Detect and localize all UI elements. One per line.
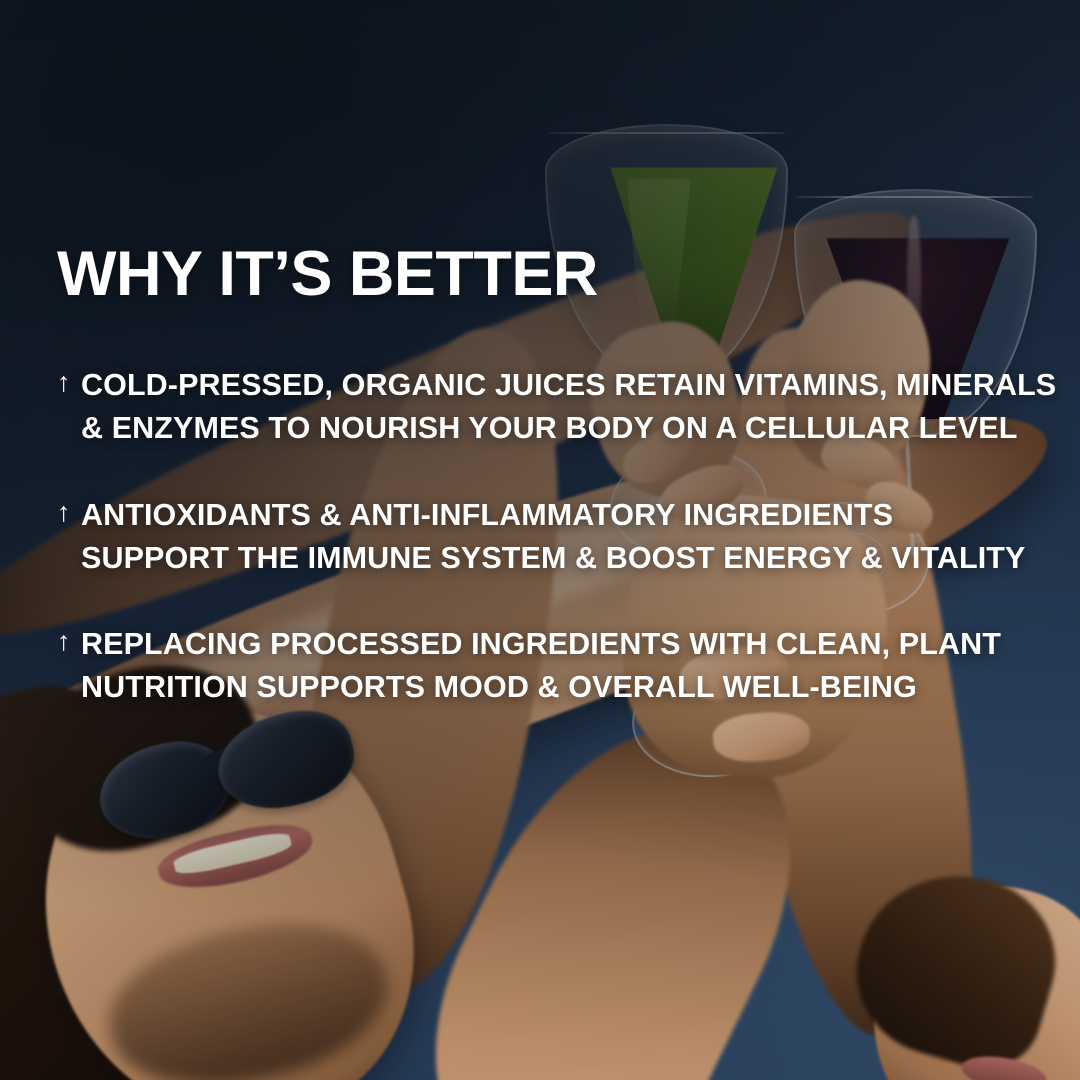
list-item: ↑ ANTIOXIDANTS & ANTI-INFLAMMATORY INGRE… — [57, 494, 1067, 581]
promo-graphic: WHY IT’S BETTER ↑ COLD-PRESSED, ORGANIC … — [0, 0, 1080, 1080]
list-item: ↑ REPLACING PROCESSED INGREDIENTS WITH C… — [57, 623, 1067, 710]
list-item-line: COLD-PRESSED, ORGANIC JUICES RETAIN VITA… — [81, 364, 1067, 407]
list-item: ↑ COLD-PRESSED, ORGANIC JUICES RETAIN VI… — [57, 364, 1067, 451]
list-item-line: & ENZYMES TO NOURISH YOUR BODY ON A CELL… — [81, 407, 1067, 450]
page-title: WHY IT’S BETTER — [57, 243, 598, 306]
list-item-text: ANTIOXIDANTS & ANTI-INFLAMMATORY INGREDI… — [81, 494, 1067, 581]
list-item-line: NUTRITION SUPPORTS MOOD & OVERALL WELL-B… — [81, 666, 1067, 709]
list-item-line: ANTIOXIDANTS & ANTI-INFLAMMATORY INGREDI… — [81, 494, 1067, 537]
list-item-line: REPLACING PROCESSED INGREDIENTS WITH CLE… — [81, 623, 1067, 666]
list-item-text: REPLACING PROCESSED INGREDIENTS WITH CLE… — [81, 623, 1067, 710]
text-overlay: WHY IT’S BETTER ↑ COLD-PRESSED, ORGANIC … — [57, 0, 1067, 1080]
list-item-text: COLD-PRESSED, ORGANIC JUICES RETAIN VITA… — [81, 364, 1067, 451]
benefits-list: ↑ COLD-PRESSED, ORGANIC JUICES RETAIN VI… — [57, 364, 1067, 710]
list-item-line: SUPPORT THE IMMUNE SYSTEM & BOOST ENERGY… — [81, 537, 1067, 580]
up-arrow-icon: ↑ — [57, 495, 71, 531]
up-arrow-icon: ↑ — [57, 365, 71, 401]
up-arrow-icon: ↑ — [57, 624, 71, 660]
